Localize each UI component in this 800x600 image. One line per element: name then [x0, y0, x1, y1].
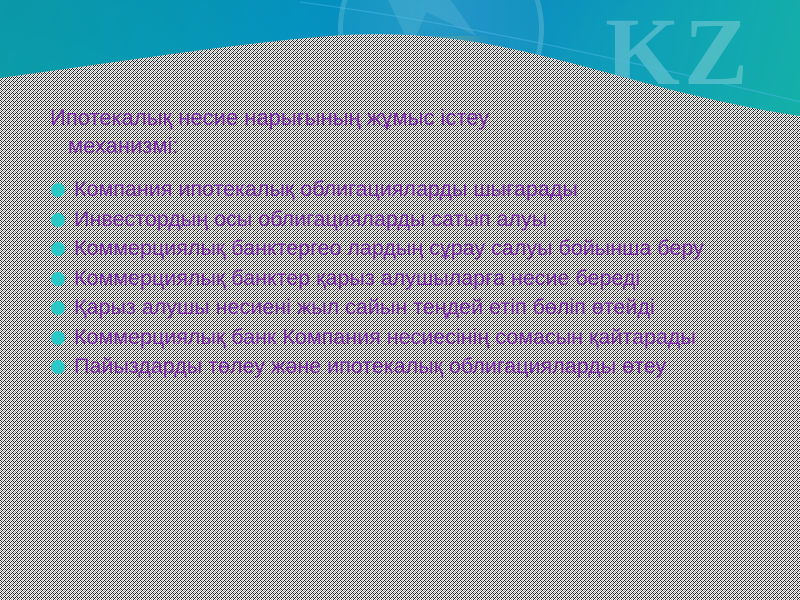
list-item-label: Коммерциялық банк Компания несиесінің со… — [74, 324, 766, 352]
list-item: Қарыз алушы несиені жыл сайын теңдей еті… — [50, 294, 766, 322]
bullet-list: Компания ипотекалық облигацияларды шығар… — [50, 176, 766, 381]
disc-bullet-icon — [51, 183, 65, 197]
list-item: Коммерциялық банктергео лардың сұрау сал… — [50, 235, 766, 263]
list-item: Коммерциялық банк Компания несиесінің со… — [50, 324, 766, 352]
list-item-label: Коммерциялық банктергео лардың сұрау сал… — [74, 235, 766, 263]
list-item-label: Коммерциялық банктер қарыз алушыларға не… — [74, 265, 766, 293]
slide-header-gradient-band — [0, 0, 800, 120]
page-title: Ипотекалық несие нарығының жұмыс істеуме… — [50, 104, 766, 160]
disc-bullet-icon — [51, 331, 65, 345]
disc-bullet-icon — [51, 242, 65, 256]
list-item: Компания ипотекалық облигацияларды шығар… — [50, 176, 766, 204]
slide-content: Ипотекалық несие нарығының жұмыс істеуме… — [50, 104, 766, 383]
disc-bullet-icon — [51, 213, 65, 227]
presentation-slide: KZ — [0, 0, 800, 600]
disc-bullet-icon — [51, 360, 65, 374]
disc-bullet-icon — [51, 272, 65, 286]
list-item-label: Қарыз алушы несиені жыл сайын теңдей еті… — [74, 294, 766, 322]
page-title-line-2: механизмі: — [50, 132, 766, 160]
disc-bullet-icon — [51, 301, 65, 315]
list-item-label: Компания ипотекалық облигацияларды шығар… — [74, 176, 766, 204]
list-item: Пайыздарды төлеу және ипотекалық облигац… — [50, 353, 766, 381]
page-title-line-1: Ипотекалық несие нарығының жұмыс істеу — [50, 105, 489, 130]
list-item-label: Пайыздарды төлеу және ипотекалық облигац… — [74, 353, 766, 381]
list-item: Инвестордың осы облигацияларды сатып алу… — [50, 206, 766, 234]
list-item: Коммерциялық банктер қарыз алушыларға не… — [50, 265, 766, 293]
list-item-label: Инвестордың осы облигацияларды сатып алу… — [74, 206, 766, 234]
